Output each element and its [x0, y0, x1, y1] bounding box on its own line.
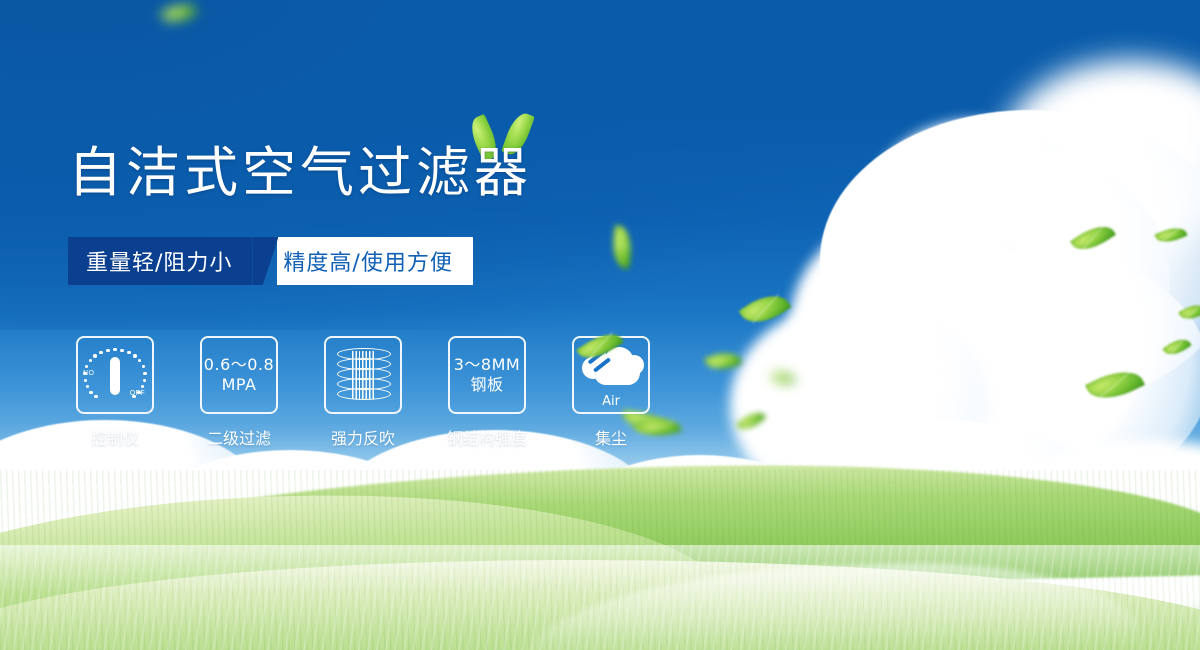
- feature-icon-box: 3～8MM 钢板: [448, 336, 526, 414]
- feature-list: NO OFF 控制仪 0.6～0.8 MPA 二级过滤: [75, 336, 651, 449]
- subtitle-secondary: 精度高/使用方便: [277, 237, 472, 285]
- filter-cartridge-icon: [334, 347, 392, 403]
- feature-label: 二级过滤: [207, 425, 271, 449]
- pressure-value-line2: MPA: [222, 375, 257, 395]
- dial-needle: [110, 357, 120, 395]
- feature-item-controller[interactable]: NO OFF 控制仪: [75, 336, 155, 449]
- steel-value-line1: 3～8MM: [454, 355, 520, 375]
- feature-item-steel-strength[interactable]: 3～8MM 钢板 钢结构强度: [447, 336, 527, 449]
- feature-item-secondary-filtration[interactable]: 0.6～0.8 MPA 二级过滤: [199, 336, 279, 449]
- subtitle-divider-wedge: [252, 237, 278, 285]
- product-banner: 自洁式空气过滤器 重量轻/阻力小 精度高/使用方便: [0, 0, 1200, 650]
- subtitle-bar: 重量轻/阻力小 精度高/使用方便: [68, 237, 473, 285]
- dial-label-no: NO: [83, 370, 94, 377]
- feature-label: 集尘: [595, 425, 627, 449]
- feature-icon-box: 0.6～0.8 MPA: [200, 336, 278, 414]
- dial-label-off: OFF: [130, 390, 145, 397]
- page-title: 自洁式空气过滤器: [68, 146, 532, 200]
- dial-gauge-icon: NO OFF: [83, 345, 147, 405]
- subtitle-primary: 重量轻/阻力小: [68, 237, 252, 285]
- air-label: Air: [602, 394, 620, 409]
- feature-label: 钢结构强度: [447, 425, 527, 449]
- feature-icon-box: NO OFF: [76, 336, 154, 414]
- feature-label: 控制仪: [91, 425, 139, 449]
- feature-label: 强力反吹: [331, 425, 395, 449]
- pressure-value-line1: 0.6～0.8: [204, 355, 274, 375]
- feature-icon-box: [324, 336, 402, 414]
- feature-item-backblow[interactable]: 强力反吹: [323, 336, 403, 449]
- steel-value-line2: 钢板: [470, 375, 503, 395]
